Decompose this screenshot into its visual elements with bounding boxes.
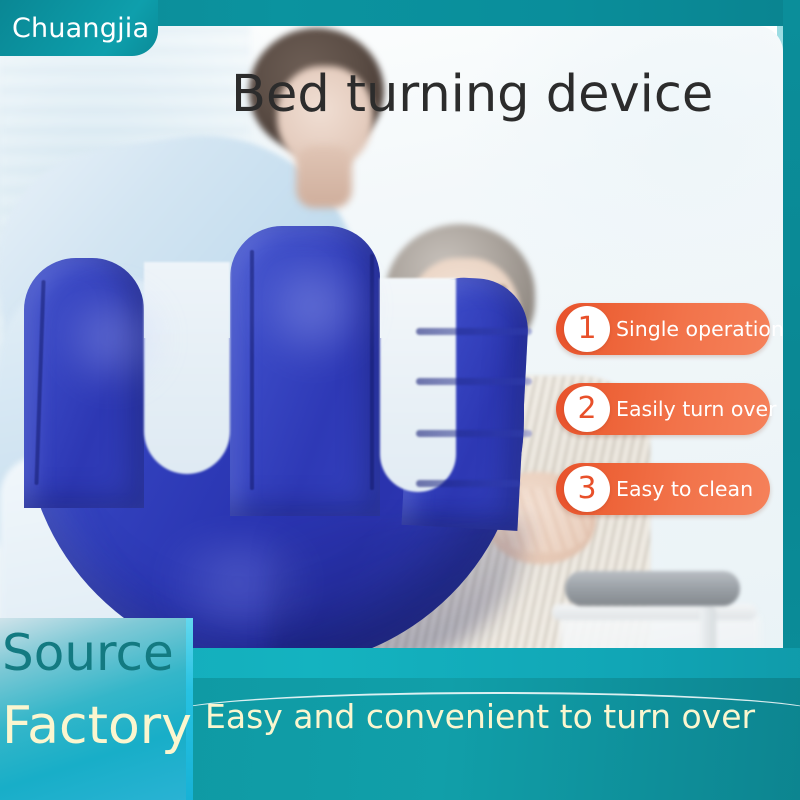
feature-number-circle-3: 3 bbox=[564, 466, 610, 512]
wheelchair-frame bbox=[552, 604, 757, 620]
cushion-ridge bbox=[416, 378, 532, 385]
brand-logo-badge: Chuangjia bbox=[0, 0, 158, 56]
feature-badge-2[interactable]: 2 Easily turn over bbox=[556, 383, 770, 435]
cushion-shadow bbox=[268, 518, 528, 668]
cushion-notch-right bbox=[380, 278, 456, 492]
feature-number-1: 1 bbox=[577, 314, 596, 344]
feature-badge-1[interactable]: 1 Single operation bbox=[556, 303, 770, 355]
feature-number-circle-2: 2 bbox=[564, 386, 610, 432]
caregiver-neck bbox=[296, 146, 352, 208]
page-title: Bed turning device bbox=[231, 69, 713, 120]
wheelchair-armrest bbox=[565, 571, 740, 606]
brand-logo-text: Chuangjia bbox=[12, 15, 149, 42]
footer-tagline: Easy and convenient to turn over bbox=[205, 700, 755, 733]
cushion-ridge bbox=[416, 480, 520, 487]
feature-label-2: Easily turn over bbox=[616, 399, 777, 420]
feature-number-circle-1: 1 bbox=[564, 306, 610, 352]
feature-number-3: 3 bbox=[577, 474, 596, 504]
feature-badge-3[interactable]: 3 Easy to clean bbox=[556, 463, 770, 515]
cushion-ridge bbox=[416, 328, 532, 335]
cushion-highlight bbox=[254, 242, 374, 372]
cushion-highlight bbox=[58, 278, 168, 398]
feature-label-3: Easy to clean bbox=[616, 479, 753, 500]
turning-cushion-product bbox=[18, 218, 558, 668]
feature-label-1: Single operation bbox=[616, 319, 784, 340]
product-poster: Chuangjia Bed turning device 1 Single op… bbox=[0, 0, 800, 800]
cushion-ridge bbox=[416, 430, 532, 437]
cushion-seam bbox=[250, 250, 254, 490]
source-word: Source bbox=[2, 628, 174, 678]
feature-badge-list: 1 Single operation 2 Easily turn over 3 … bbox=[556, 303, 770, 543]
feature-number-2: 2 bbox=[577, 394, 596, 424]
factory-word: Factory bbox=[2, 700, 192, 752]
